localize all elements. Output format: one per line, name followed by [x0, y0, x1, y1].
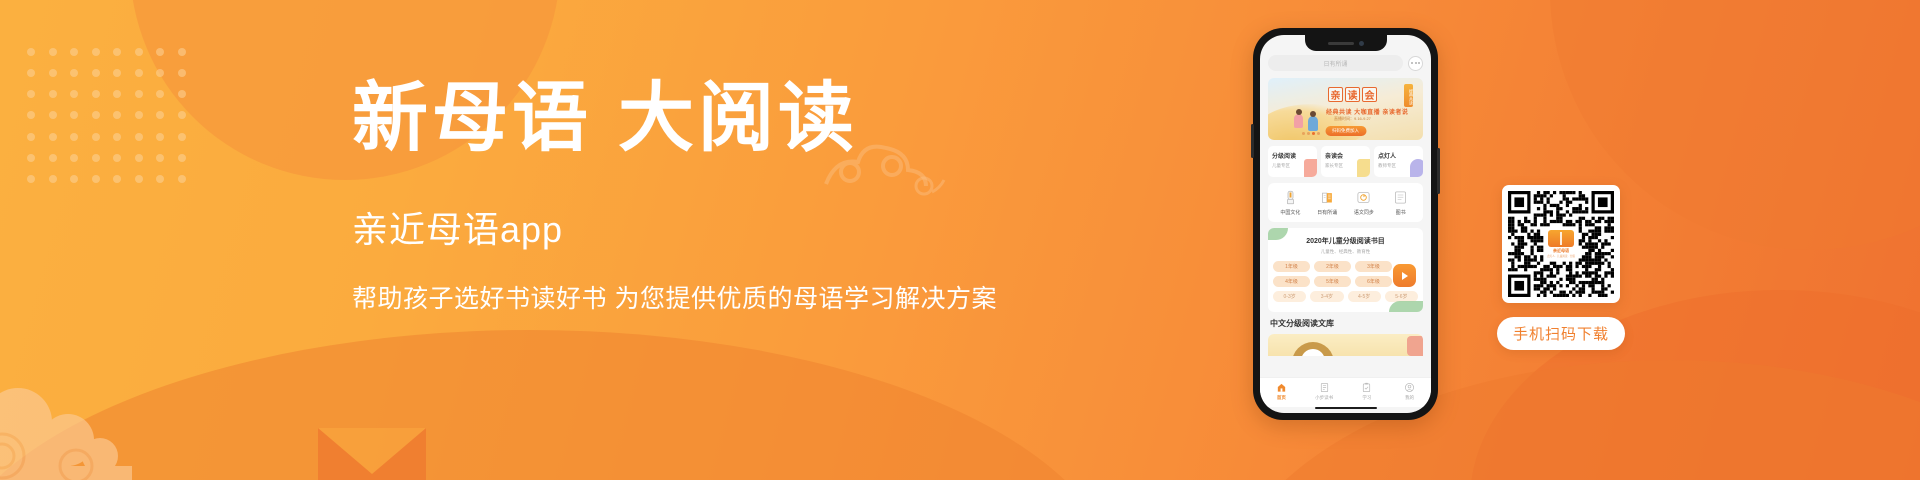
recite-icon [1320, 190, 1335, 205]
booklist-title: 2020年儿童分级阅读书目 [1273, 236, 1418, 246]
brand-logo: 亲近母语 点灯人 · 儿童阅读 · 分级 [1544, 227, 1578, 261]
hero-banner[interactable]: 亲 读 会 经典共读 经典共读 大咖直播 亲读者说 直播时间：9.16-9.27… [1268, 78, 1423, 140]
page-icon [1357, 159, 1370, 177]
tab-label: 我的 [1388, 395, 1431, 401]
card-parent-club[interactable]: 亲读会 家长专区 [1321, 146, 1370, 177]
booklist-subtitle: 儿童性、经典性、教育性 [1273, 249, 1418, 255]
hero-title-char: 亲 [1328, 87, 1343, 102]
book-icon [1393, 190, 1408, 205]
quick-entry-label: 图书 [1382, 209, 1419, 216]
download-button[interactable]: 手机扫码下载 [1497, 317, 1625, 350]
bookmark-icon [1304, 159, 1317, 177]
tagline: 帮助孩子选好书读好书 为您提供优质的母语学习解决方案 [352, 283, 1012, 316]
tab-reading[interactable]: 小步读书 [1303, 382, 1346, 401]
more-dots-icon[interactable] [1408, 56, 1423, 71]
search-input[interactable]: 日有所诵 [1268, 55, 1403, 71]
grade-pill[interactable]: 6年级 [1355, 276, 1392, 287]
quick-entry-culture[interactable]: 中国文化 [1272, 190, 1309, 216]
page-title: 新母语大阅读 [352, 80, 1012, 156]
decorative-envelope-shape [318, 428, 426, 480]
hero-title-char: 读 [1345, 87, 1360, 102]
age-pill[interactable]: 0-3岁 [1273, 291, 1306, 302]
card-graded-reading[interactable]: 分级阅读 儿童专区 [1268, 146, 1317, 177]
quick-entry-recite[interactable]: 日有所诵 [1309, 190, 1346, 216]
phone-notch [1305, 35, 1387, 51]
tab-label: 学习 [1346, 395, 1389, 401]
tab-home[interactable]: 首页 [1260, 382, 1303, 401]
headline-left: 新母语 [352, 73, 592, 162]
age-pill[interactable]: 4-5岁 [1348, 291, 1381, 302]
hero-kid-art-2 [1308, 116, 1318, 131]
age-row: 0-3岁 3-4岁 4-5岁 5-6岁 [1273, 291, 1418, 302]
reading-icon [1319, 382, 1330, 393]
book-logo-icon [1548, 230, 1574, 247]
front-camera-icon [1359, 41, 1364, 46]
qr-block: 亲近母语 点灯人 · 儿童阅读 · 分级 手机扫码下载 [1487, 185, 1635, 350]
grade-pill[interactable]: 5年级 [1314, 276, 1351, 287]
promo-banner: 新母语大阅读 亲近母语app 帮助孩子选好书读好书 为您提供优质的母语学习解决方… [0, 0, 1920, 480]
tab-study[interactable]: 学习 [1346, 382, 1389, 401]
age-pill[interactable]: 3-4岁 [1310, 291, 1343, 302]
tab-label: 首页 [1260, 395, 1303, 401]
booklist-section: 2020年儿童分级阅读书目 儿童性、经典性、教育性 1年级 2年级 3年级 4年… [1268, 228, 1423, 312]
speaker-grill [1328, 42, 1354, 45]
headline-right: 大阅读 [618, 73, 858, 162]
lamp-icon [1410, 159, 1423, 177]
brand-tagline: 点灯人 · 儿童阅读 · 分级 [1547, 254, 1575, 258]
decorative-hill-left [0, 330, 1120, 480]
home-icon [1276, 382, 1287, 393]
grade-pill[interactable]: 4年级 [1273, 276, 1310, 287]
hero-title: 亲 读 会 [1328, 87, 1377, 102]
hero-title-char: 会 [1362, 87, 1377, 102]
quick-entry-label: 中国文化 [1272, 209, 1309, 216]
phone-screen: 日有所诵 亲 读 会 经典共读 经典共读 大咖直播 亲读者说 直播时间：9.16… [1260, 35, 1431, 413]
auspicious-cloud-icon [0, 370, 162, 480]
library-art-tab [1407, 336, 1423, 356]
sync-icon [1356, 190, 1371, 205]
grade-pill[interactable]: 3年级 [1355, 261, 1392, 272]
tab-profile[interactable]: 我的 [1388, 382, 1431, 401]
grade-pill[interactable]: 2年级 [1314, 261, 1351, 272]
study-icon [1361, 382, 1372, 393]
profile-icon [1404, 382, 1415, 393]
qr-code[interactable]: 亲近母语 点灯人 · 儿童阅读 · 分级 [1502, 185, 1620, 303]
card-title: 点灯人 [1378, 151, 1419, 160]
hero-cta-button[interactable]: 扫码免费加入 [1325, 126, 1366, 136]
play-video-icon[interactable] [1393, 264, 1416, 287]
category-cards: 分级阅读 儿童专区 亲读会 家长专区 点灯人 教师专区 [1268, 146, 1423, 177]
grade-pill[interactable]: 1年级 [1273, 261, 1310, 272]
app-content: 日有所诵 亲 读 会 经典共读 经典共读 大咖直播 亲读者说 直播时间：9.16… [1260, 35, 1431, 377]
library-card[interactable] [1268, 334, 1423, 356]
quick-entry-label: 日有所诵 [1309, 209, 1346, 216]
card-teacher-zone[interactable]: 点灯人 教师专区 [1374, 146, 1423, 177]
library-title: 中文分级阅读文库 [1270, 318, 1423, 329]
hero-subtitle: 经典共读 大咖直播 亲读者说 [1326, 107, 1408, 116]
culture-icon [1283, 190, 1298, 205]
bottom-tabbar: 首页 小步读书 [1260, 377, 1431, 407]
home-indicator [1315, 407, 1377, 410]
decorative-dot-grid [27, 48, 199, 196]
carousel-dots[interactable] [1302, 132, 1320, 135]
copy-block: 新母语大阅读 亲近母语app 帮助孩子选好书读好书 为您提供优质的母语学习解决方… [352, 80, 1012, 316]
quick-entry-books[interactable]: 图书 [1382, 190, 1419, 216]
quick-entries: 中国文化 日有所诵 [1268, 183, 1423, 222]
quick-entry-label: 语文同步 [1346, 209, 1383, 216]
quick-entry-sync[interactable]: 语文同步 [1346, 190, 1383, 216]
hero-kid-art-1 [1294, 114, 1303, 128]
hero-badge: 经典共读 [1404, 84, 1413, 107]
leaf-decoration-icon [1389, 301, 1423, 312]
tab-label: 小步读书 [1303, 395, 1346, 401]
hero-date: 直播时间：9.16-9.27 [1334, 116, 1371, 122]
search-row: 日有所诵 [1268, 55, 1423, 71]
phone-mockup: 日有所诵 亲 读 会 经典共读 经典共读 大咖直播 亲读者说 直播时间：9.16… [1253, 28, 1438, 420]
app-name: 亲近母语app [352, 208, 1012, 251]
